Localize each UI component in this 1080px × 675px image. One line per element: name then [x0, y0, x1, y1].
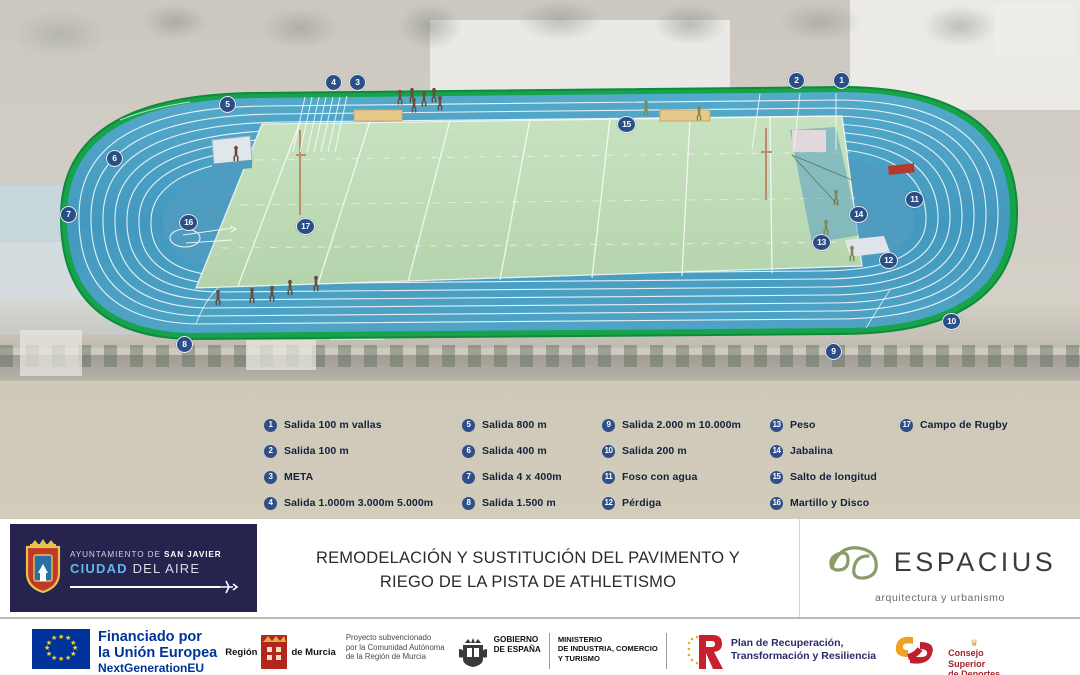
legend-label-12: Pérdiga [622, 497, 661, 509]
legend-label-15: Salto de longitud [790, 471, 877, 483]
espacius-wordmark: ESPACIUS [894, 547, 1057, 578]
legend-badge-3: 3 [264, 471, 277, 484]
map-marker-8[interactable]: 8 [176, 336, 193, 353]
map-marker-1[interactable]: 1 [833, 72, 850, 89]
legend-item-3[interactable]: 3META [264, 464, 462, 490]
legend-badge-15: 15 [770, 471, 783, 484]
csd-mark-icon [888, 631, 942, 669]
project-title: REMODELACIÓN Y SUSTITUCIÓN DEL PAVIMENTO… [257, 519, 799, 619]
eu-line-1: Financiado por [98, 629, 217, 645]
legend-item-2[interactable]: 2Salida 100 m [264, 438, 462, 464]
legend-item-13[interactable]: 13Peso [770, 412, 900, 438]
legend-badge-5: 5 [462, 419, 475, 432]
san-javier-line2: CIUDAD DEL AIRE [70, 561, 222, 576]
prtr-logo: Plan de Recuperación, Transformación y R… [675, 619, 876, 671]
eu-star-icon: ★ [58, 656, 64, 663]
consejo-superior-deportes-logo: ♛ Consejo Superior de Deportes [876, 619, 1000, 675]
map-marker-9[interactable]: 9 [825, 343, 842, 360]
legend-column-3: 9Salida 2.000 m 10.000m10Salida 200 m11F… [602, 412, 770, 516]
legend-column-1: 1Salida 100 m vallas2Salida 100 m3META4S… [264, 412, 462, 516]
map-marker-17[interactable]: 17 [296, 218, 315, 235]
ministerio-line-1: MINISTERIO [558, 635, 658, 644]
ministerio-line-2: DE INDUSTRIA, COMERCIO [558, 644, 658, 653]
footer-divider-2 [666, 633, 667, 669]
map-marker-16[interactable]: 16 [179, 214, 198, 231]
gobierno-line-2: DE ESPAÑA [494, 645, 541, 655]
csd-line-3: de Deportes [948, 669, 1000, 675]
project-title-line-2: RIEGO DE LA PISTA DE ATHLETISMO [380, 571, 676, 595]
eu-line-3: NextGenerationEU [98, 662, 217, 675]
espacius-logo: ESPACIUS arquitectura y urbanismo [799, 519, 1080, 619]
prtr-mark-icon [685, 633, 725, 671]
legend-badge-4: 4 [264, 497, 277, 510]
legend-badge-7: 7 [462, 471, 475, 484]
eu-star-icon: ★ [51, 635, 57, 642]
san-javier-underline [70, 586, 220, 588]
long-jump-pit-2 [354, 110, 402, 121]
eu-line-2: la Unión Europea [98, 645, 217, 661]
gobierno-crest-icon [457, 635, 489, 667]
csd-line-1: Consejo [948, 648, 1000, 659]
legend-item-9[interactable]: 9Salida 2.000 m 10.000m [602, 412, 770, 438]
csd-crown-icon: ♛ [948, 639, 1000, 648]
map-marker-10[interactable]: 10 [942, 313, 961, 330]
legend-badge-9: 9 [602, 419, 615, 432]
legend-item-4[interactable]: 4Salida 1.000m 3.000m 5.000m [264, 490, 462, 516]
legend-badge-10: 10 [602, 445, 615, 458]
funding-footer: ★★★★★★★★★★★★ Financiado por la Unión Eur… [0, 619, 1080, 675]
legend-badge-1: 1 [264, 419, 277, 432]
legend-label-5: Salida 800 m [482, 419, 547, 431]
san-javier-wordmark: AYUNTAMIENTO DE SAN JAVIER CIUDAD DEL AI… [70, 550, 222, 576]
legend-label-3: META [284, 471, 313, 483]
espacius-monogram-icon [824, 540, 890, 584]
title-panel: AYUNTAMIENTO DE SAN JAVIER CIUDAD DEL AI… [0, 519, 1080, 619]
legend-item-10[interactable]: 10Salida 200 m [602, 438, 770, 464]
airplane-icon [215, 580, 239, 594]
map-marker-6[interactable]: 6 [106, 150, 123, 167]
legend-badge-6: 6 [462, 445, 475, 458]
ministerio-line-3: Y TURISMO [558, 654, 658, 663]
legend-label-16: Martillo y Disco [790, 497, 869, 509]
san-javier-crest-icon [24, 537, 62, 593]
legend-item-14[interactable]: 14Jabalina [770, 438, 900, 464]
legend-label-11: Foso con agua [622, 471, 697, 483]
legend-label-4: Salida 1.000m 3.000m 5.000m [284, 497, 433, 509]
map-marker-15[interactable]: 15 [617, 116, 636, 133]
espacius-tagline: arquitectura y urbanismo [875, 592, 1005, 604]
ministerio-text: MINISTERIO DE INDUSTRIA, COMERCIO Y TURI… [558, 619, 658, 663]
gobierno-line-1: GOBIERNO [494, 635, 541, 645]
legend-label-2: Salida 100 m [284, 445, 349, 457]
project-board: 1234567891011121314151617 1Salida 100 m … [0, 0, 1080, 675]
subvencion-line-3: de la Región de Murcia [346, 652, 445, 662]
legend-item-8[interactable]: 8Salida 1.500 m [462, 490, 602, 516]
map-marker-14[interactable]: 14 [849, 206, 868, 223]
prtr-line-2: Transformación y Resiliencia [731, 650, 876, 663]
legend-label-17: Campo de Rugby [920, 419, 1008, 431]
legend-item-5[interactable]: 5Salida 800 m [462, 412, 602, 438]
footer-divider-1 [549, 633, 550, 669]
map-marker-7[interactable]: 7 [60, 206, 77, 223]
san-javier-line1: AYUNTAMIENTO DE SAN JAVIER [70, 550, 222, 559]
map-marker-4[interactable]: 4 [325, 74, 342, 91]
subvencion-line-2: por la Comunidad Autónoma [346, 643, 445, 653]
legend-badge-2: 2 [264, 445, 277, 458]
map-marker-3[interactable]: 3 [349, 74, 366, 91]
legend-item-1[interactable]: 1Salida 100 m vallas [264, 412, 462, 438]
legend-column-4: 13Peso14Jabalina15Salto de longitud16Mar… [770, 412, 900, 516]
legend-badge-13: 13 [770, 419, 783, 432]
legend-badge-14: 14 [770, 445, 783, 458]
legend-column-2: 5Salida 800 m6Salida 400 m7Salida 4 x 40… [462, 412, 602, 516]
legend-label-6: Salida 400 m [482, 445, 547, 457]
prtr-line-1: Plan de Recuperación, [731, 637, 876, 650]
long-jump-pit [660, 110, 710, 121]
legend-item-7[interactable]: 7Salida 4 x 400m [462, 464, 602, 490]
legend-badge-12: 12 [602, 497, 615, 510]
map-marker-11[interactable]: 11 [905, 191, 924, 208]
map-marker-5[interactable]: 5 [219, 96, 236, 113]
subvencion-line-1: Proyecto subvencionado [346, 633, 445, 643]
murcia-after: de Murcia [291, 647, 335, 658]
legend-column-5: 17Campo de Rugby [900, 412, 1050, 516]
legend-label-10: Salida 200 m [622, 445, 687, 457]
legend-label-14: Jabalina [790, 445, 833, 457]
project-title-line-1: REMODELACIÓN Y SUSTITUCIÓN DEL PAVIMENTO… [316, 547, 740, 571]
legend-item-15[interactable]: 15Salto de longitud [770, 464, 900, 490]
legend-item-16[interactable]: 16Martillo y Disco [770, 490, 900, 516]
murcia-before: Región [225, 647, 257, 658]
csd-line-2: Superior [948, 659, 1000, 670]
legend-label-7: Salida 4 x 400m [482, 471, 562, 483]
map-marker-2[interactable]: 2 [788, 72, 805, 89]
legend: 1Salida 100 m vallas2Salida 100 m3META4S… [264, 412, 1054, 516]
legend-label-13: Peso [790, 419, 816, 431]
eu-star-icon: ★ [65, 655, 71, 662]
legend-label-1: Salida 100 m vallas [284, 419, 382, 431]
eu-star-icon: ★ [58, 634, 64, 641]
map-marker-13[interactable]: 13 [812, 234, 831, 251]
subvencion-text: Proyecto subvencionado por la Comunidad … [336, 619, 445, 662]
shot-put-pad [792, 130, 826, 152]
legend-item-6[interactable]: 6Salida 400 m [462, 438, 602, 464]
gobierno-de-espana-logo: GOBIERNO DE ESPAÑA [445, 619, 541, 667]
legend-badge-16: 16 [770, 497, 783, 510]
legend-badge-8: 8 [462, 497, 475, 510]
legend-label-8: Salida 1.500 m [482, 497, 556, 509]
legend-item-11[interactable]: 11Foso con agua [602, 464, 770, 490]
legend-item-12[interactable]: 12Pérdiga [602, 490, 770, 516]
region-de-murcia-logo: Región de Murcia [217, 619, 336, 669]
eu-flag-icon: ★★★★★★★★★★★★ [32, 629, 90, 669]
legend-badge-17: 17 [900, 419, 913, 432]
legend-label-9: Salida 2.000 m 10.000m [622, 419, 741, 431]
murcia-crest-icon [261, 635, 287, 669]
ayuntamiento-san-javier-logo: AYUNTAMIENTO DE SAN JAVIER CIUDAD DEL AI… [10, 524, 257, 612]
high-jump-mat [212, 136, 252, 164]
map-marker-12[interactable]: 12 [879, 252, 898, 269]
legend-item-17[interactable]: 17Campo de Rugby [900, 412, 1050, 438]
legend-badge-11: 11 [602, 471, 615, 484]
eu-funding-logo: ★★★★★★★★★★★★ Financiado por la Unión Eur… [0, 619, 217, 675]
